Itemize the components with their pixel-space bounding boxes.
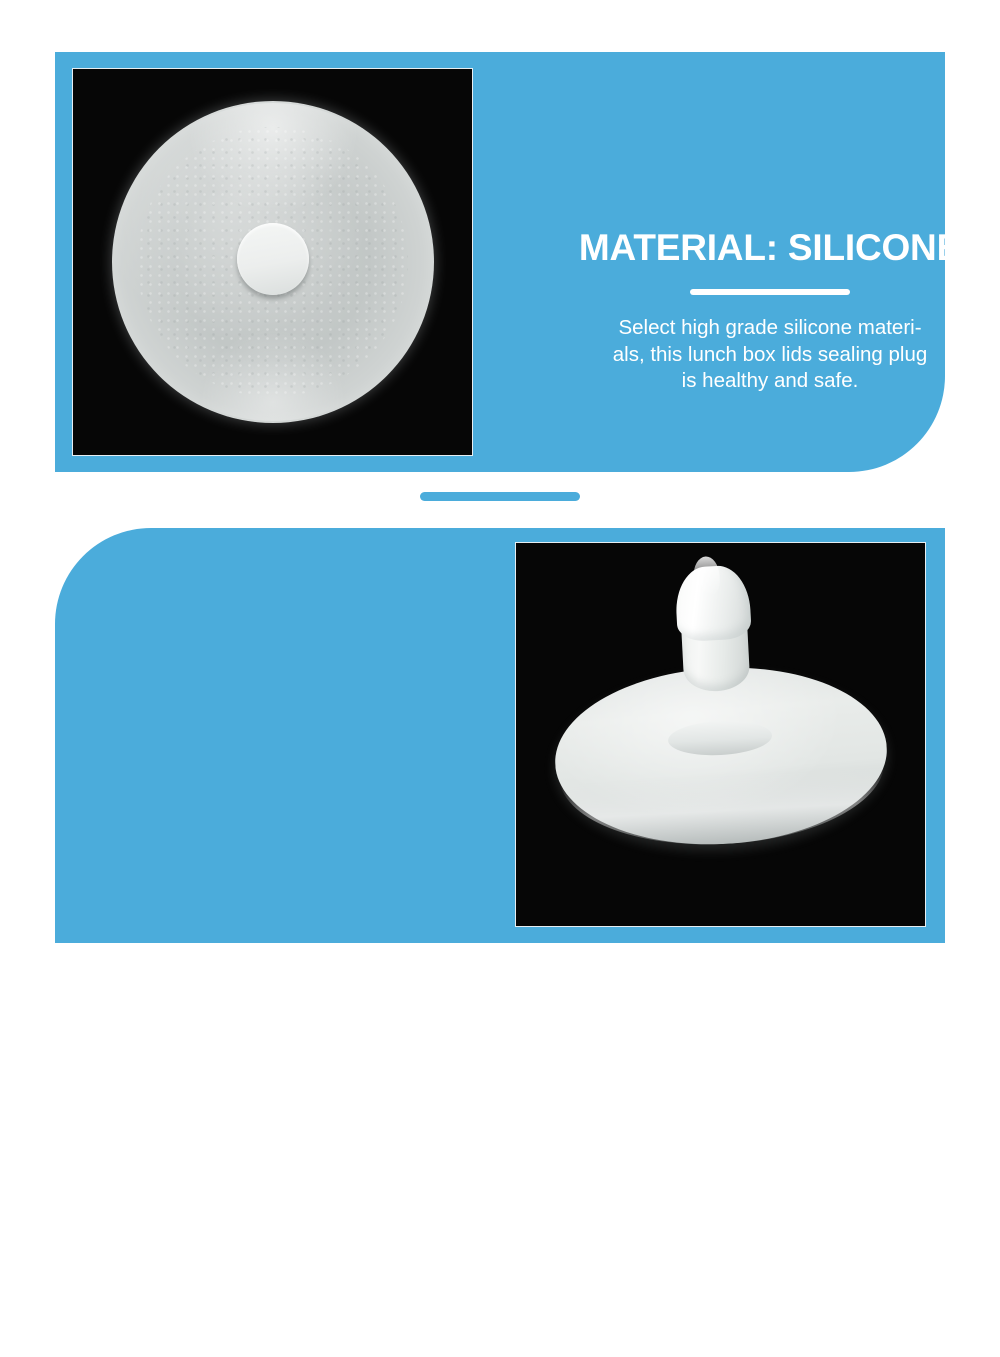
silicone-disc-side-graphic (550, 659, 891, 852)
section-body-design: Good sealing effect, it can keep the lun… (103, 1277, 573, 1357)
headline-rule (690, 289, 850, 295)
silicone-disc-top-graphic (112, 101, 434, 423)
disc-center-plug-graphic (237, 223, 309, 295)
body-line: Select high grade silicone materi- (618, 316, 921, 339)
body-line: you take food, practical. (230, 1331, 447, 1354)
body-line: Good sealing effect, it can keep the (177, 1278, 498, 1301)
silicone-seal-side-view-photo (515, 542, 926, 927)
section-body-material: Select high grade silicone materi- als, … (535, 315, 1000, 395)
plug-cone-graphic (674, 564, 752, 642)
section-headline-material: MATERIAL: SILICONE (535, 228, 1000, 268)
infographic-canvas: MATERIAL: SILICONE Select high grade sil… (0, 0, 1000, 1000)
body-line: is healthy and safe. (682, 369, 859, 392)
section-divider-pill (420, 492, 580, 501)
section-panel-design: EXCLUSIVE DESIGN Good sealing effect, it… (55, 528, 945, 943)
body-line: als, this lunch box lids sealing plug (613, 343, 928, 366)
body-line: lunch box inner temperature when (183, 1305, 493, 1328)
section-panel-material: MATERIAL: SILICONE Select high grade sil… (55, 52, 945, 472)
section-copy-design: EXCLUSIVE DESIGN Good sealing effect, it… (103, 1190, 573, 1357)
headline-rule (258, 1251, 418, 1257)
section-headline-design: EXCLUSIVE DESIGN (103, 1190, 573, 1230)
silicone-seal-top-view-photo (72, 68, 473, 456)
section-copy-material: MATERIAL: SILICONE Select high grade sil… (535, 228, 1000, 395)
